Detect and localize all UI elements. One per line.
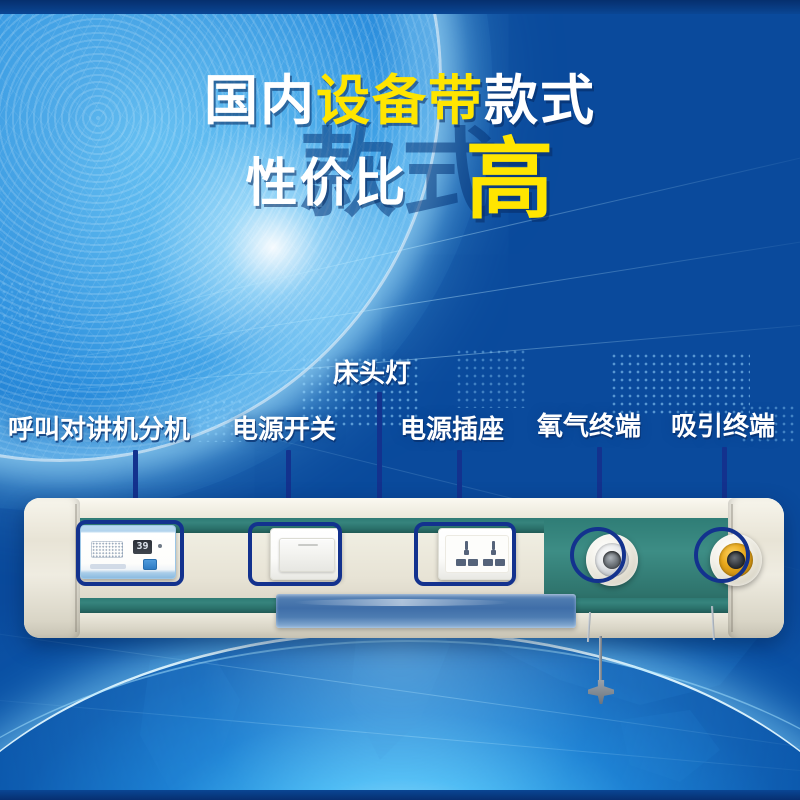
callout-label-suction: 吸引终端 bbox=[671, 413, 775, 439]
bed-lamp-diffuser[interactable] bbox=[276, 594, 576, 628]
intercom-call-button[interactable] bbox=[143, 559, 157, 570]
callout-layer: 呼叫对讲机分机 电源开关 床头灯 电源插座 氧气终端 吸引终端 bbox=[0, 0, 800, 800]
callout-label-intercom: 呼叫对讲机分机 bbox=[8, 416, 190, 442]
suction-port-icon bbox=[727, 551, 745, 569]
unit-end-cap-left bbox=[24, 498, 80, 638]
suction-probe bbox=[597, 636, 605, 704]
socket-outlet-left[interactable] bbox=[454, 541, 481, 569]
oxygen-terminal[interactable]: OXYGEN bbox=[586, 534, 638, 586]
intercom-slot bbox=[90, 564, 126, 569]
product-banner: 款式 国内设备带款式 性价比 高 呼叫对讲机分机 电源开关 床头灯 电源插座 氧… bbox=[0, 0, 800, 800]
rocker-paddle[interactable] bbox=[279, 538, 335, 572]
power-switch[interactable] bbox=[270, 528, 342, 580]
unit-body: 39 bbox=[24, 498, 784, 638]
callout-label-oxygen: 氧气终端 bbox=[537, 413, 641, 439]
status-led-icon bbox=[158, 544, 162, 548]
suction-terminal[interactable]: VACUUM bbox=[710, 534, 762, 586]
callout-label-bed-lamp: 床头灯 bbox=[333, 360, 411, 386]
callout-label-power-switch: 电源开关 bbox=[232, 416, 336, 442]
unit-face-top bbox=[24, 498, 784, 518]
bed-head-unit: 39 bbox=[24, 498, 784, 638]
power-socket[interactable] bbox=[438, 528, 516, 580]
callout-label-power-socket: 电源插座 bbox=[400, 416, 504, 442]
speaker-grille-icon bbox=[91, 541, 123, 558]
socket-faceplate bbox=[445, 535, 509, 573]
intercom-display: 39 bbox=[133, 540, 152, 554]
intercom-handset[interactable]: 39 bbox=[80, 525, 176, 579]
oxygen-port-icon bbox=[603, 551, 621, 569]
socket-outlet-right[interactable] bbox=[481, 541, 508, 569]
